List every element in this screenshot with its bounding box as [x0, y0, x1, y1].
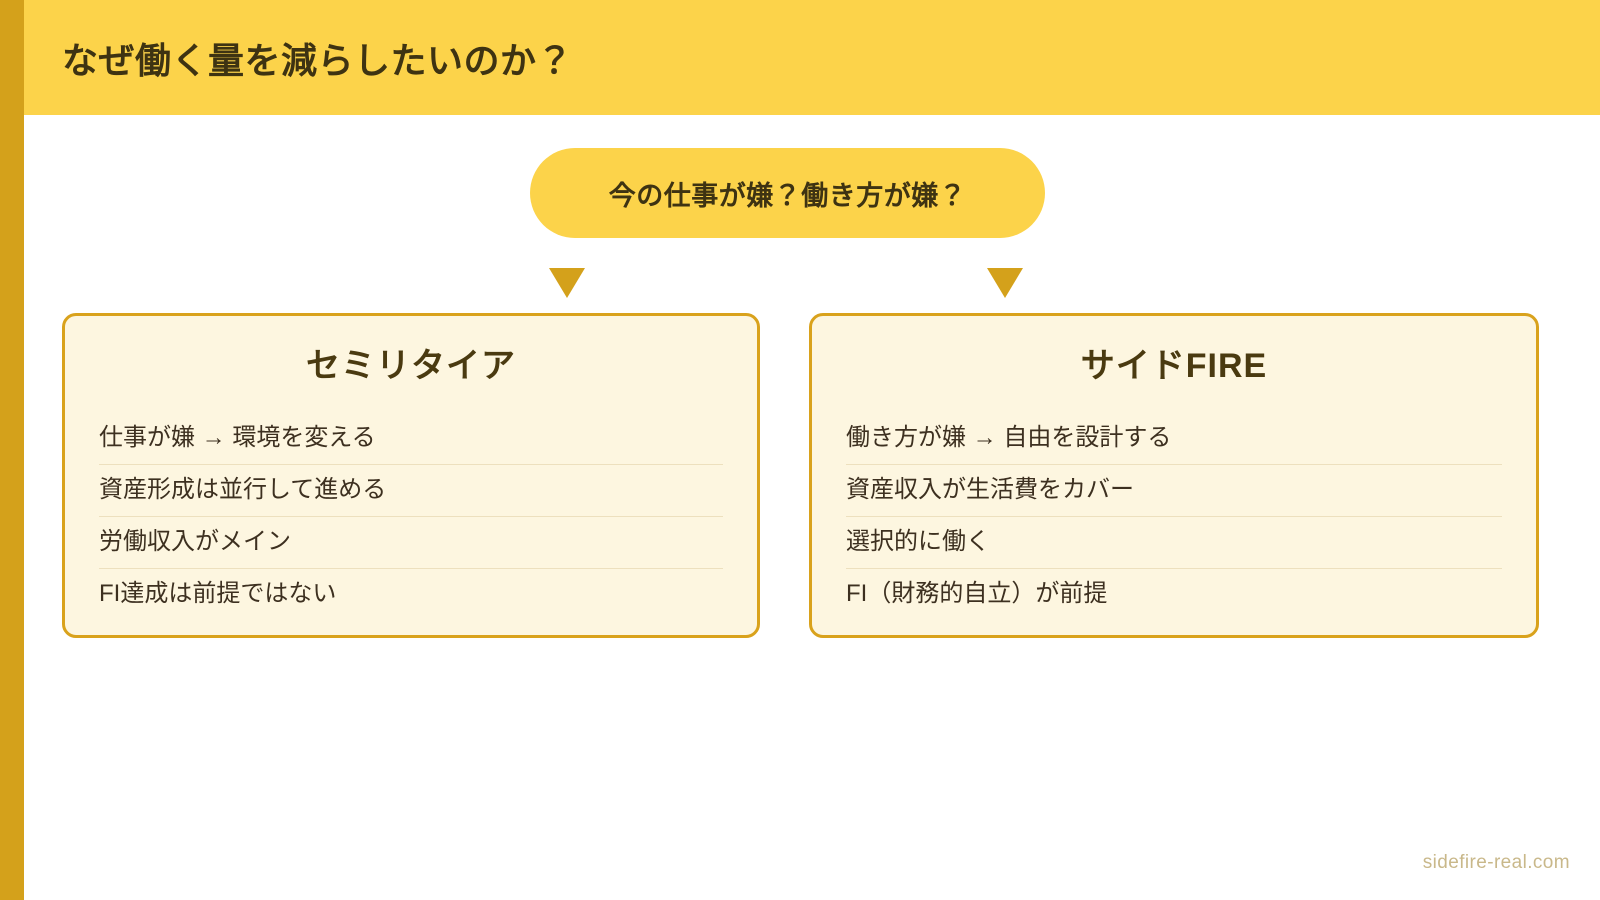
list-item: 資産形成は並行して進める	[99, 465, 723, 517]
triangle-down-icon-right	[987, 268, 1023, 298]
question-pill-label: 今の仕事が嫌？働き方が嫌？	[609, 174, 967, 213]
site-watermark: sidefire-real.com	[1423, 852, 1570, 874]
triangle-down-icon-left	[549, 268, 585, 298]
list-item: FI（財務的自立）が前提	[846, 569, 1502, 620]
card-semi-retire: セミリタイア 仕事が嫌 → 環境を変える 資産形成は並行して進める 労働収入がメ…	[62, 313, 760, 638]
list-item: FI達成は前提ではない	[99, 569, 723, 620]
question-pill: 今の仕事が嫌？働き方が嫌？	[530, 148, 1045, 238]
card-title-side-fire: サイドFIRE	[846, 338, 1502, 387]
list-item: 選択的に働く	[846, 517, 1502, 569]
list-item: 労働収入がメイン	[99, 517, 723, 569]
infographic-slide: なぜ働く量を減らしたいのか？ 今の仕事が嫌？働き方が嫌？ セミリタイア 仕事が嫌…	[0, 0, 1600, 900]
card-side-fire: サイドFIRE 働き方が嫌 → 自由を設計する 資産収入が生活費をカバー 選択的…	[809, 313, 1539, 638]
header-band: なぜ働く量を減らしたいのか？	[24, 0, 1600, 115]
list-item: 資産収入が生活費をカバー	[846, 465, 1502, 517]
card-list-side-fire: 働き方が嫌 → 自由を設計する 資産収入が生活費をカバー 選択的に働く FI（財…	[846, 413, 1502, 620]
list-item: 働き方が嫌 → 自由を設計する	[846, 413, 1502, 465]
card-title-semi-retire: セミリタイア	[99, 338, 723, 387]
list-item: 仕事が嫌 → 環境を変える	[99, 413, 723, 465]
left-accent-stripe	[0, 0, 24, 900]
page-title: なぜ働く量を減らしたいのか？	[62, 32, 573, 84]
card-list-semi-retire: 仕事が嫌 → 環境を変える 資産形成は並行して進める 労働収入がメイン FI達成…	[99, 413, 723, 620]
